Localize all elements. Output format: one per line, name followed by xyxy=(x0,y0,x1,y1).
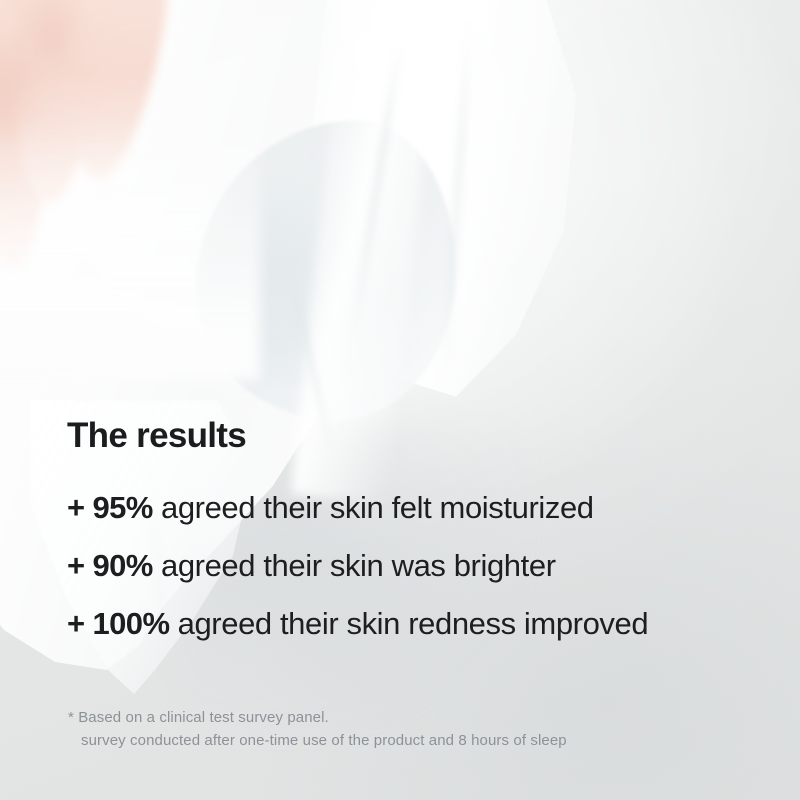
page-title: The results xyxy=(67,418,246,453)
result-item: + 95% agreed their skin felt moisturized xyxy=(67,492,767,523)
footnote: * Based on a clinical test survey panel.… xyxy=(68,706,567,753)
result-claim: agreed their skin redness improved xyxy=(169,606,648,641)
result-claim: agreed their skin was brighter xyxy=(153,548,556,583)
text-overlay: The results + 95% agreed their skin felt… xyxy=(0,0,800,800)
result-item: + 90% agreed their skin was brighter xyxy=(67,550,767,581)
result-item: + 100% agreed their skin redness improve… xyxy=(67,608,767,639)
result-claim: agreed their skin felt moisturized xyxy=(153,490,594,525)
footnote-line-secondary: survey conducted after one-time use of t… xyxy=(68,729,567,752)
result-percentage: + 100% xyxy=(67,606,169,641)
results-list: + 95% agreed their skin felt moisturized… xyxy=(67,492,767,666)
result-percentage: + 95% xyxy=(67,490,153,525)
marketing-image-canvas: The results + 95% agreed their skin felt… xyxy=(0,0,800,800)
result-percentage: + 90% xyxy=(67,548,153,583)
footnote-line-primary: * Based on a clinical test survey panel. xyxy=(68,706,567,729)
